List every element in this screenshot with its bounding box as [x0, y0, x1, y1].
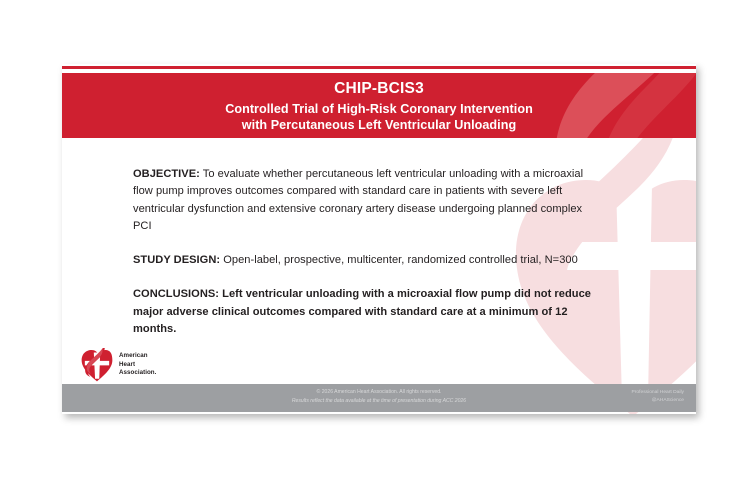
top-accent-rule	[62, 66, 696, 69]
aha-wordmark-line3: Association.	[119, 369, 156, 378]
trial-name: CHIP-BCIS3	[334, 79, 424, 98]
objective-paragraph: OBJECTIVE: To evaluate whether percutane…	[133, 166, 603, 235]
trial-subtitle-line2: with Percutaneous Left Ventricular Unloa…	[242, 117, 516, 134]
aha-wordmark: American Heart Association.	[119, 352, 156, 378]
aha-heart-torch-icon	[81, 348, 113, 382]
aha-logo: American Heart Association.	[81, 348, 156, 382]
footer-brand: Professional Heart Daily @AHAScience	[632, 389, 684, 406]
slide-footer-bar: © 2026 American Heart Association. All r…	[62, 384, 696, 412]
objective-label: OBJECTIVE:	[133, 168, 200, 180]
presentation-slide: CHIP-BCIS3 Controlled Trial of High-Risk…	[62, 64, 696, 414]
study-design-text: Open-label, prospective, multicenter, ra…	[220, 254, 578, 266]
footer-copyright-line1: © 2026 American Heart Association. All r…	[62, 388, 696, 397]
aha-wordmark-line2: Heart	[119, 361, 156, 370]
conclusions-paragraph: CONCLUSIONS: Left ventricular unloading …	[133, 286, 603, 338]
slide-content: OBJECTIVE: To evaluate whether percutane…	[62, 138, 696, 338]
study-design-paragraph: STUDY DESIGN: Open-label, prospective, m…	[133, 252, 603, 269]
screenshot-canvas: CHIP-BCIS3 Controlled Trial of High-Risk…	[0, 0, 750, 500]
conclusions-label: CONCLUSIONS:	[133, 288, 219, 300]
slide-body: OBJECTIVE: To evaluate whether percutane…	[62, 138, 696, 414]
trial-subtitle-line1: Controlled Trial of High-Risk Coronary I…	[225, 101, 533, 118]
header-text-block: CHIP-BCIS3 Controlled Trial of High-Risk…	[62, 73, 696, 138]
aha-wordmark-line1: American	[119, 352, 156, 361]
slide-header-band: CHIP-BCIS3 Controlled Trial of High-Risk…	[62, 73, 696, 138]
footer-copyright-line2: Results reflect the data available at th…	[62, 397, 696, 406]
study-design-label: STUDY DESIGN:	[133, 254, 220, 266]
objective-text: To evaluate whether percutaneous left ve…	[133, 168, 583, 232]
footer-copyright: © 2026 American Heart Association. All r…	[62, 388, 696, 405]
footer-brand-line2: @AHAScience	[632, 397, 684, 405]
footer-brand-line1: Professional Heart Daily	[632, 389, 684, 397]
